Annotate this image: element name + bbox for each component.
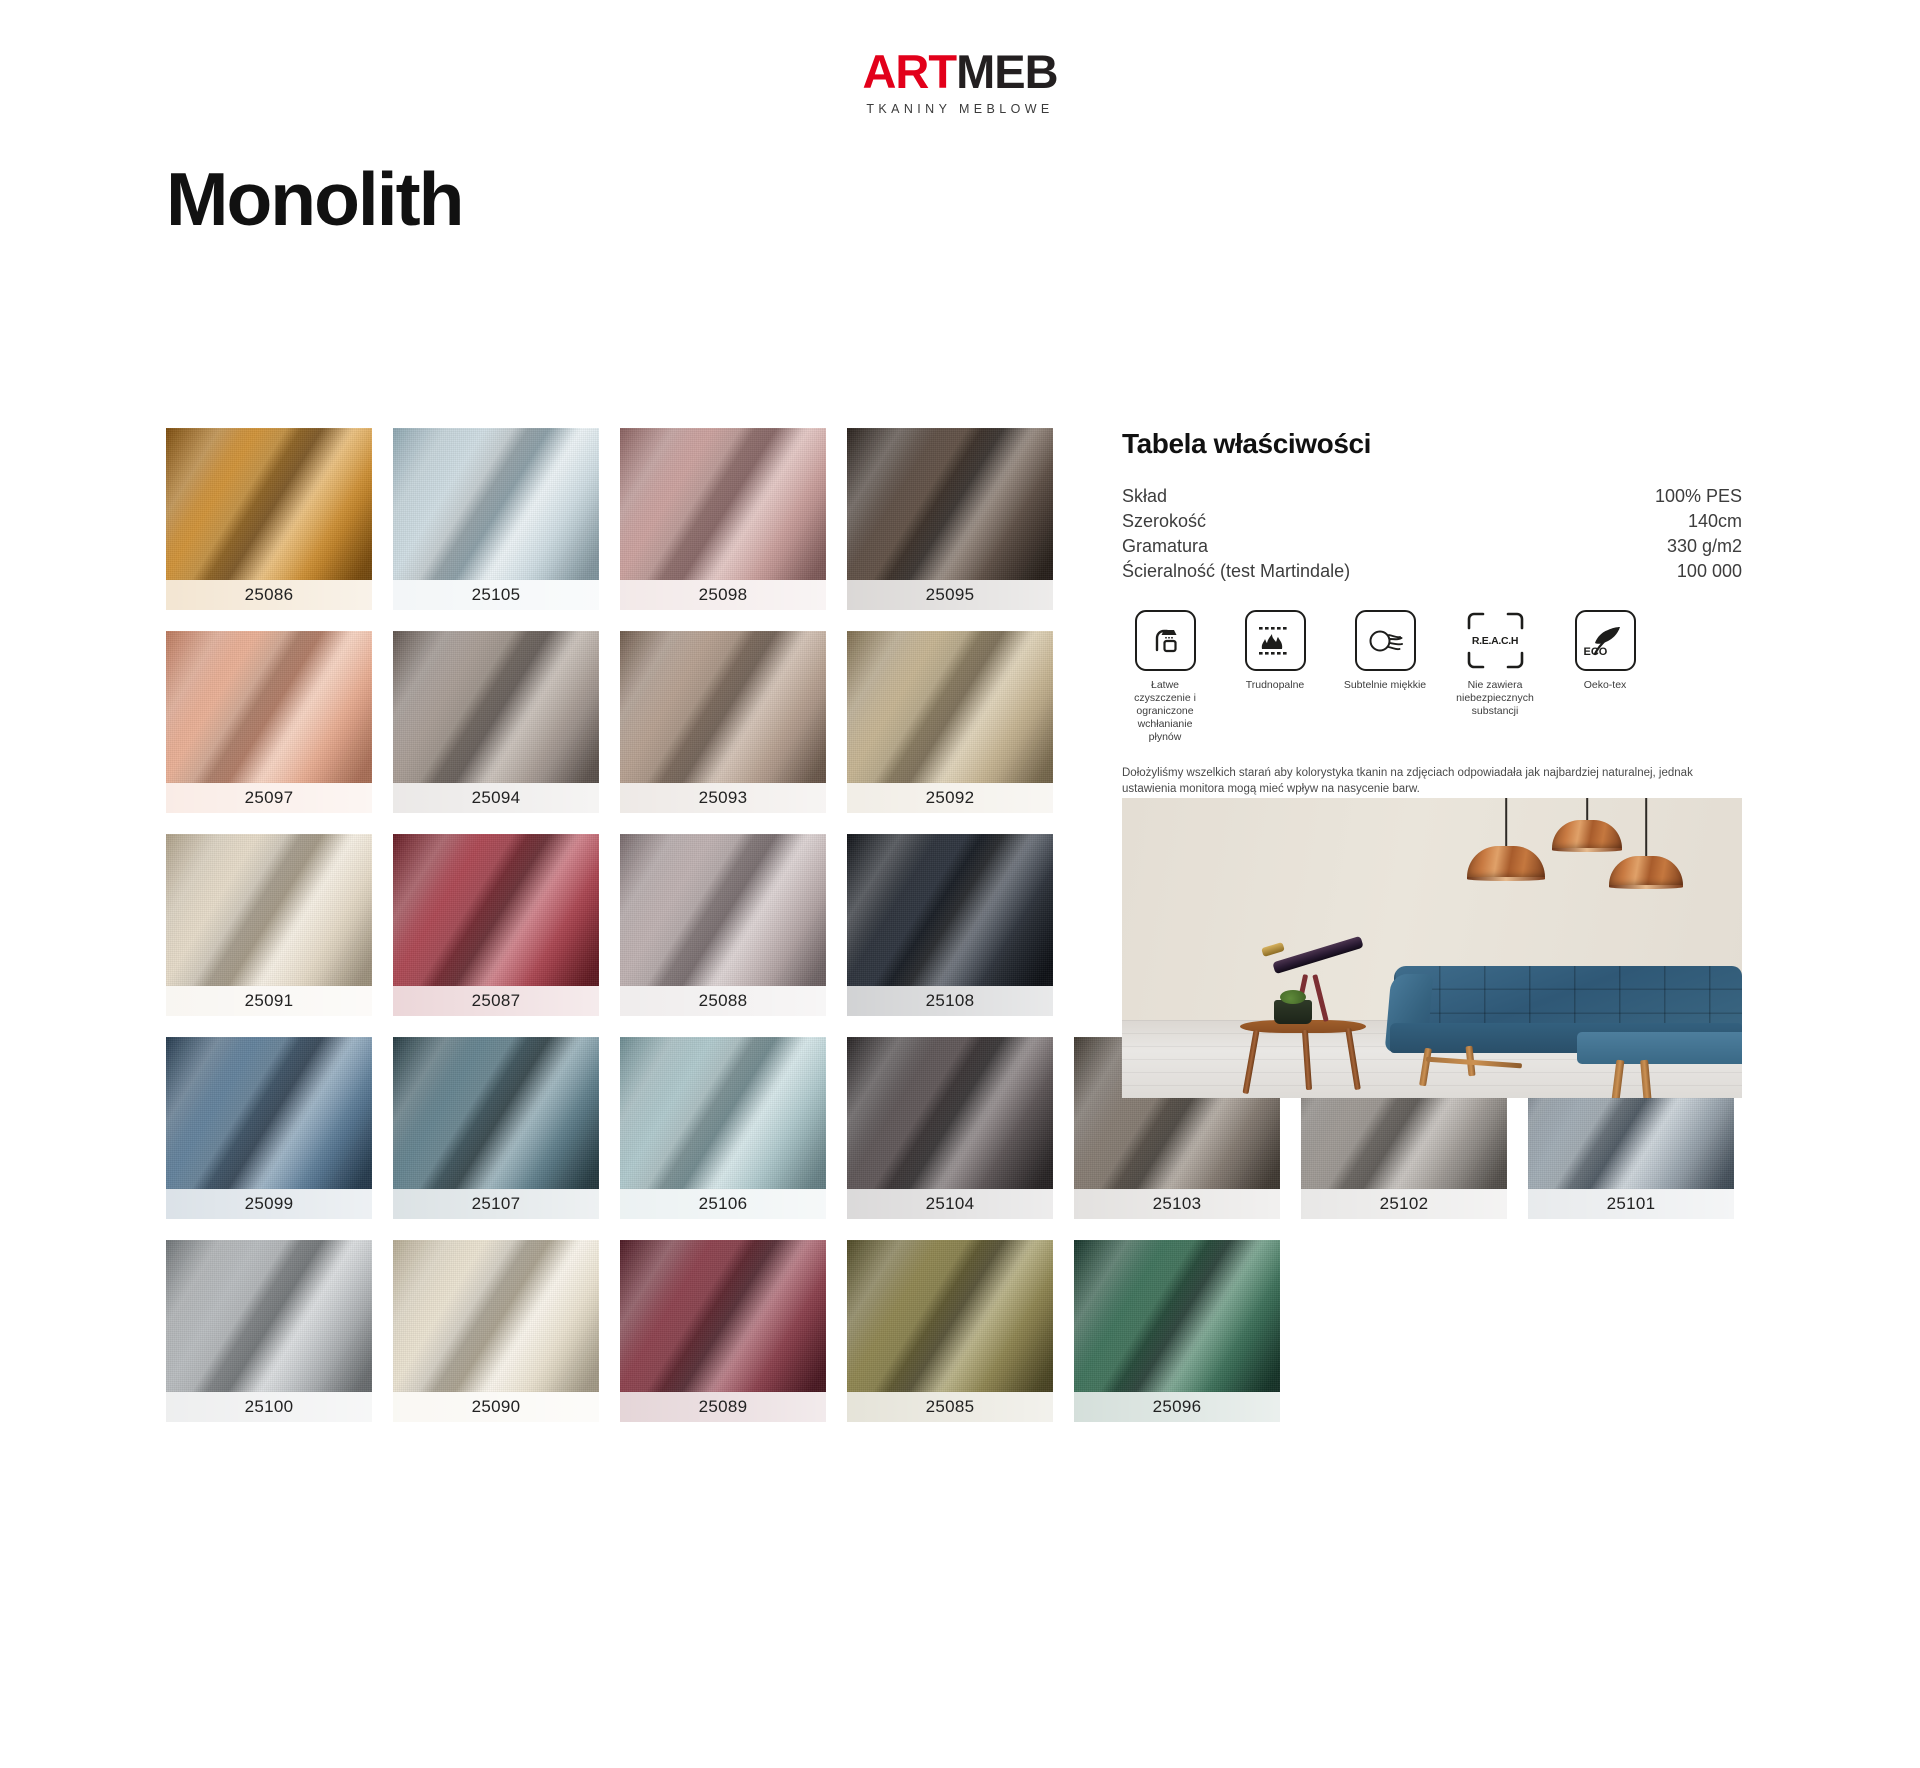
- swatch-25106[interactable]: 25106: [620, 1037, 826, 1219]
- swatch-code-label: 25108: [847, 986, 1053, 1016]
- swatch-weave-texture: [166, 834, 372, 986]
- certification-caption: Subtelnie miękkie: [1342, 679, 1428, 692]
- oeko-tex-icon: ECO: [1575, 610, 1636, 671]
- swatch-25107[interactable]: 25107: [393, 1037, 599, 1219]
- swatch-code-label: 25091: [166, 986, 372, 1016]
- swatch-image: [166, 1037, 372, 1189]
- swatch-weave-texture: [847, 834, 1053, 986]
- swatch-25099[interactable]: 25099: [166, 1037, 372, 1219]
- swatch-image: [847, 834, 1053, 986]
- interior-photo: [1122, 798, 1742, 1098]
- swatch-weave-texture: [166, 1037, 372, 1189]
- swatch-weave-texture: [620, 1037, 826, 1189]
- properties-title: Tabela właściwości: [1122, 428, 1742, 460]
- certification-oeko-tex: ECOOeko-tex: [1562, 610, 1648, 744]
- swatch-25089[interactable]: 25089: [620, 1240, 826, 1422]
- swatch-25085[interactable]: 25085: [847, 1240, 1053, 1422]
- swatch-code-label: 25097: [166, 783, 372, 813]
- swatch-image: [847, 428, 1053, 580]
- swatch-code-label: 25093: [620, 783, 826, 813]
- swatch-weave-texture: [620, 1240, 826, 1392]
- swatch-25098[interactable]: 25098: [620, 428, 826, 610]
- swatch-code-label: 25087: [393, 986, 599, 1016]
- swatch-code-label: 25094: [393, 783, 599, 813]
- swatch-25095[interactable]: 25095: [847, 428, 1053, 610]
- swatch-25100[interactable]: 25100: [166, 1240, 372, 1422]
- easy-clean-icon: [1135, 610, 1196, 671]
- certification-caption: Oeko-tex: [1562, 679, 1648, 692]
- logo-art-text: ART: [862, 45, 956, 98]
- certification-icons: Łatwe czyszczenie i ograniczone wchłania…: [1122, 610, 1742, 744]
- swatch-image: [166, 428, 372, 580]
- swatch-weave-texture: [620, 631, 826, 783]
- swatch-code-label: 25105: [393, 580, 599, 610]
- swatch-code-label: 25101: [1528, 1189, 1734, 1219]
- swatch-image: [166, 631, 372, 783]
- spec-value: 100 000: [1677, 559, 1742, 584]
- swatch-code-label: 25092: [847, 783, 1053, 813]
- spec-label: Ścieralność (test Martindale): [1122, 559, 1350, 584]
- swatch-image: [393, 834, 599, 986]
- swatch-weave-texture: [166, 428, 372, 580]
- swatch-image: [620, 631, 826, 783]
- swatch-image: [1074, 1240, 1280, 1392]
- spec-value: 140cm: [1688, 509, 1742, 534]
- swatch-code-label: 25104: [847, 1189, 1053, 1219]
- swatch-code-label: 25086: [166, 580, 372, 610]
- logo-wordmark: ARTMEB: [862, 48, 1057, 95]
- spec-value: 100% PES: [1655, 484, 1742, 509]
- swatch-image: [166, 1240, 372, 1392]
- spec-label: Szerokość: [1122, 509, 1206, 534]
- swatch-image: [620, 1240, 826, 1392]
- swatch-weave-texture: [847, 631, 1053, 783]
- plant-foliage: [1280, 990, 1306, 1004]
- swatch-weave-texture: [393, 631, 599, 783]
- swatch-25096[interactable]: 25096: [1074, 1240, 1280, 1422]
- swatch-25094[interactable]: 25094: [393, 631, 599, 813]
- swatch-code-label: 25107: [393, 1189, 599, 1219]
- swatch-weave-texture: [847, 428, 1053, 580]
- swatch-image: [620, 1037, 826, 1189]
- swatch-weave-texture: [847, 1240, 1053, 1392]
- swatch-code-label: 25099: [166, 1189, 372, 1219]
- swatch-weave-texture: [166, 1240, 372, 1392]
- swatch-25086[interactable]: 25086: [166, 428, 372, 610]
- swatch-code-label: 25096: [1074, 1392, 1280, 1422]
- swatch-25104[interactable]: 25104: [847, 1037, 1053, 1219]
- spec-value: 330 g/m2: [1667, 534, 1742, 559]
- swatch-code-label: 25102: [1301, 1189, 1507, 1219]
- swatch-image: [847, 1240, 1053, 1392]
- swatch-code-label: 25103: [1074, 1189, 1280, 1219]
- spec-label: Gramatura: [1122, 534, 1208, 559]
- logo-tagline: TKANINY MEBLOWE: [866, 102, 1053, 116]
- swatch-row: 2510025090250892508525096: [166, 1240, 1326, 1422]
- swatch-25088[interactable]: 25088: [620, 834, 826, 1016]
- swatch-weave-texture: [393, 1240, 599, 1392]
- disclaimer-color-accuracy: Dołożyliśmy wszelkich starań aby kolorys…: [1122, 766, 1734, 797]
- spec-label: Skład: [1122, 484, 1167, 509]
- swatch-image: [393, 1037, 599, 1189]
- swatch-code-label: 25098: [620, 580, 826, 610]
- swatch-weave-texture: [393, 1037, 599, 1189]
- spec-row: Szerokość140cm: [1122, 509, 1742, 534]
- properties-panel: Tabela właściwości Skład100% PESSzerokoś…: [1122, 428, 1742, 828]
- page-title: Monolith: [166, 162, 462, 237]
- reach-icon: R.E.A.C.H: [1465, 610, 1526, 671]
- swatch-image: [620, 834, 826, 986]
- spec-table: Skład100% PESSzerokość140cmGramatura330 …: [1122, 484, 1742, 584]
- swatch-weave-texture: [620, 428, 826, 580]
- swatch-weave-texture: [166, 631, 372, 783]
- certification-flame-retardant: Trudnopalne: [1232, 610, 1318, 744]
- swatch-code-label: 25085: [847, 1392, 1053, 1422]
- certification-caption: Nie zawiera niebezpiecznych substancji: [1452, 679, 1538, 718]
- swatch-weave-texture: [1074, 1240, 1280, 1392]
- swatch-weave-texture: [393, 834, 599, 986]
- swatch-code-label: 25089: [620, 1392, 826, 1422]
- swatch-25108[interactable]: 25108: [847, 834, 1053, 1016]
- certification-reach: R.E.A.C.HNie zawiera niebezpiecznych sub…: [1452, 610, 1538, 744]
- spec-row: Ścieralność (test Martindale)100 000: [1122, 559, 1742, 584]
- swatch-code-label: 25100: [166, 1392, 372, 1422]
- swatch-image: [620, 428, 826, 580]
- certification-easy-clean: Łatwe czyszczenie i ograniczone wchłania…: [1122, 610, 1208, 744]
- certification-caption: Łatwe czyszczenie i ograniczone wchłania…: [1122, 679, 1208, 744]
- swatch-weave-texture: [393, 428, 599, 580]
- swatch-image: [393, 428, 599, 580]
- ottoman: [1577, 1032, 1742, 1064]
- swatch-image: [166, 834, 372, 986]
- swatch-code-label: 25106: [620, 1189, 826, 1219]
- brand-logo: ARTMEB TKANINY MEBLOWE: [0, 48, 1920, 116]
- spec-row: Skład100% PES: [1122, 484, 1742, 509]
- swatch-code-label: 25088: [620, 986, 826, 1016]
- certification-caption: Trudnopalne: [1232, 679, 1318, 692]
- flame-retardant-icon: [1245, 610, 1306, 671]
- swatch-image: [847, 631, 1053, 783]
- swatch-25090[interactable]: 25090: [393, 1240, 599, 1422]
- soft-touch-icon: [1355, 610, 1416, 671]
- swatch-code-label: 25090: [393, 1392, 599, 1422]
- swatch-25092[interactable]: 25092: [847, 631, 1053, 813]
- swatch-25091[interactable]: 25091: [166, 834, 372, 1016]
- swatch-code-label: 25095: [847, 580, 1053, 610]
- spec-row: Gramatura330 g/m2: [1122, 534, 1742, 559]
- eco-badge-text: ECO: [1584, 646, 1608, 658]
- swatch-image: [393, 631, 599, 783]
- swatch-image: [847, 1037, 1053, 1189]
- swatch-25087[interactable]: 25087: [393, 834, 599, 1016]
- swatch-25105[interactable]: 25105: [393, 428, 599, 610]
- logo-meb-text: MEB: [956, 45, 1057, 98]
- swatch-image: [393, 1240, 599, 1392]
- swatch-25093[interactable]: 25093: [620, 631, 826, 813]
- swatch-weave-texture: [620, 834, 826, 986]
- certification-soft-touch: Subtelnie miękkie: [1342, 610, 1428, 744]
- swatch-weave-texture: [847, 1037, 1053, 1189]
- swatch-25097[interactable]: 25097: [166, 631, 372, 813]
